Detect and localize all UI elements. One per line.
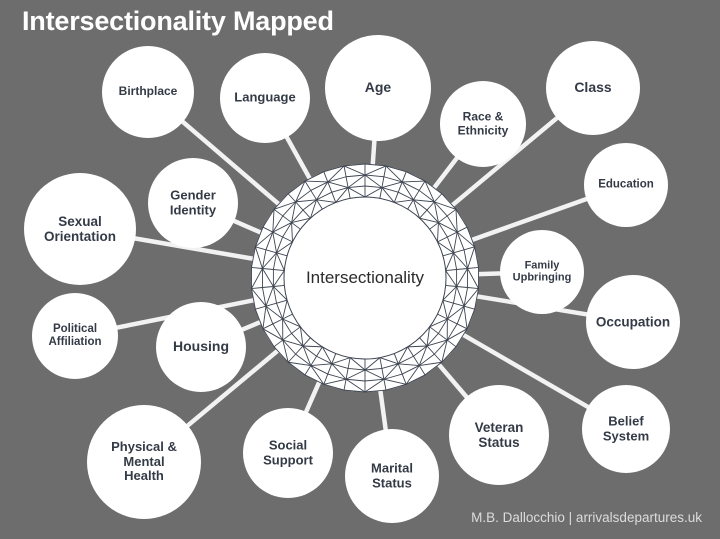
node-circle-birthplace[interactable] [102, 46, 194, 138]
page-title: Intersectionality Mapped [22, 6, 334, 37]
node-circle-veteran-status[interactable] [449, 385, 549, 485]
node-circle-age[interactable] [325, 35, 431, 141]
edge-gender-identity [232, 220, 264, 234]
node-circle-class[interactable] [546, 41, 640, 135]
node-circle-language[interactable] [220, 53, 310, 143]
node-circle-social-support[interactable] [243, 408, 333, 498]
node-circle-belief-system[interactable] [582, 385, 670, 473]
credit-line: M.B. Dallocchio | arrivalsdepartures.uk [471, 510, 702, 525]
edge-marital-status [380, 387, 386, 431]
node-circle-physical-mental[interactable] [87, 405, 201, 519]
edge-race-ethnicity [432, 157, 458, 191]
node-circle-political-affil[interactable] [32, 293, 118, 379]
edge-social-support [305, 379, 320, 414]
node-circle-education[interactable] [584, 143, 668, 227]
node-circle-gender-identity[interactable] [148, 158, 238, 248]
node-circle-race-ethnicity[interactable] [440, 81, 526, 167]
node-circle-housing[interactable] [156, 302, 246, 392]
diagram-canvas: Intersectionality Mapped BirthplaceLangu… [0, 0, 720, 539]
edge-veteran-status [436, 362, 467, 399]
edge-age [373, 139, 375, 168]
node-circle-family-upbringing[interactable] [500, 230, 584, 314]
node-circle-occupation[interactable] [586, 275, 680, 369]
node-circle-marital-status[interactable] [345, 429, 439, 523]
hub-label: Intersectionality [306, 268, 424, 288]
edge-language [286, 136, 312, 182]
node-circle-sexual-orientation[interactable] [24, 173, 136, 285]
edge-family-upbringing [475, 273, 502, 274]
